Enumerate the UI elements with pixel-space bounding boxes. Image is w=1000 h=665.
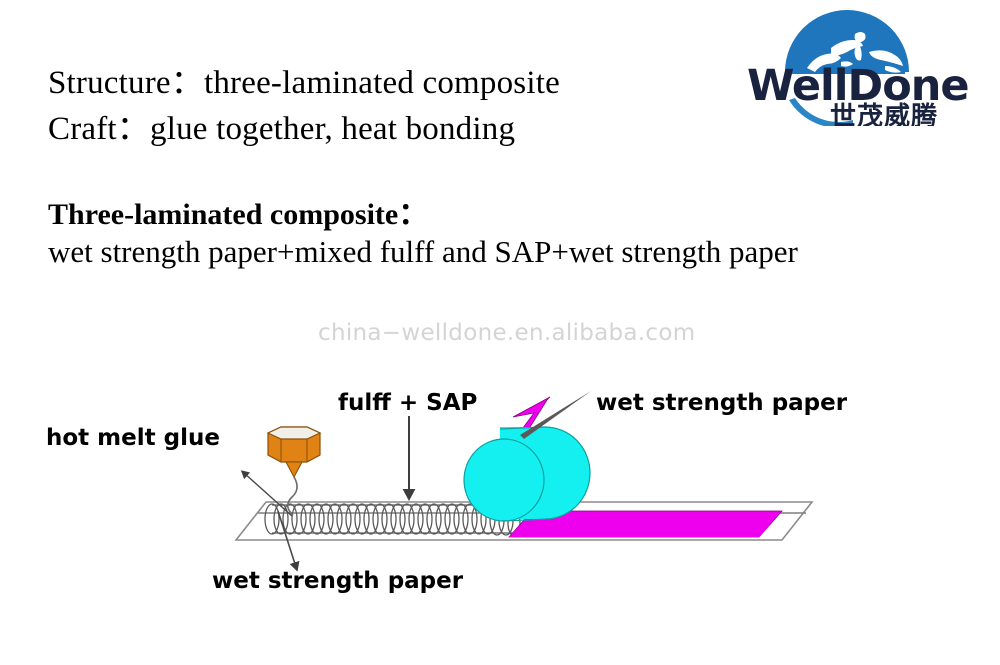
hot-melt-glue-applicator [268, 427, 320, 477]
welldone-logo: WellDone 世茂威腾 [745, 8, 985, 126]
cyan-press-roller [464, 427, 590, 521]
label-fulff-sap: fulff + SAP [338, 390, 477, 416]
slide-canvas: Structure：three-laminated composite Craf… [0, 0, 1000, 665]
structure-line: Structure：three-laminated composite [48, 55, 560, 103]
label-wet-strength-paper-top: wet strength paper [596, 390, 847, 416]
craft-line: Craft：glue together, heat bonding [48, 101, 515, 149]
label-wet-strength-paper-bottom: wet strength paper [212, 568, 463, 594]
logo-chinese-text: 世茂威腾 [830, 101, 938, 126]
watermark-text: china−welldone.en.alibaba.com [318, 320, 695, 346]
label-hot-melt-glue: hot melt glue [46, 425, 220, 451]
section-subtitle: Three-laminated composite： [48, 189, 428, 233]
lamination-process-diagram [0, 355, 1000, 620]
composition-line: wet strength paper+mixed fulff and SAP+w… [48, 234, 798, 270]
